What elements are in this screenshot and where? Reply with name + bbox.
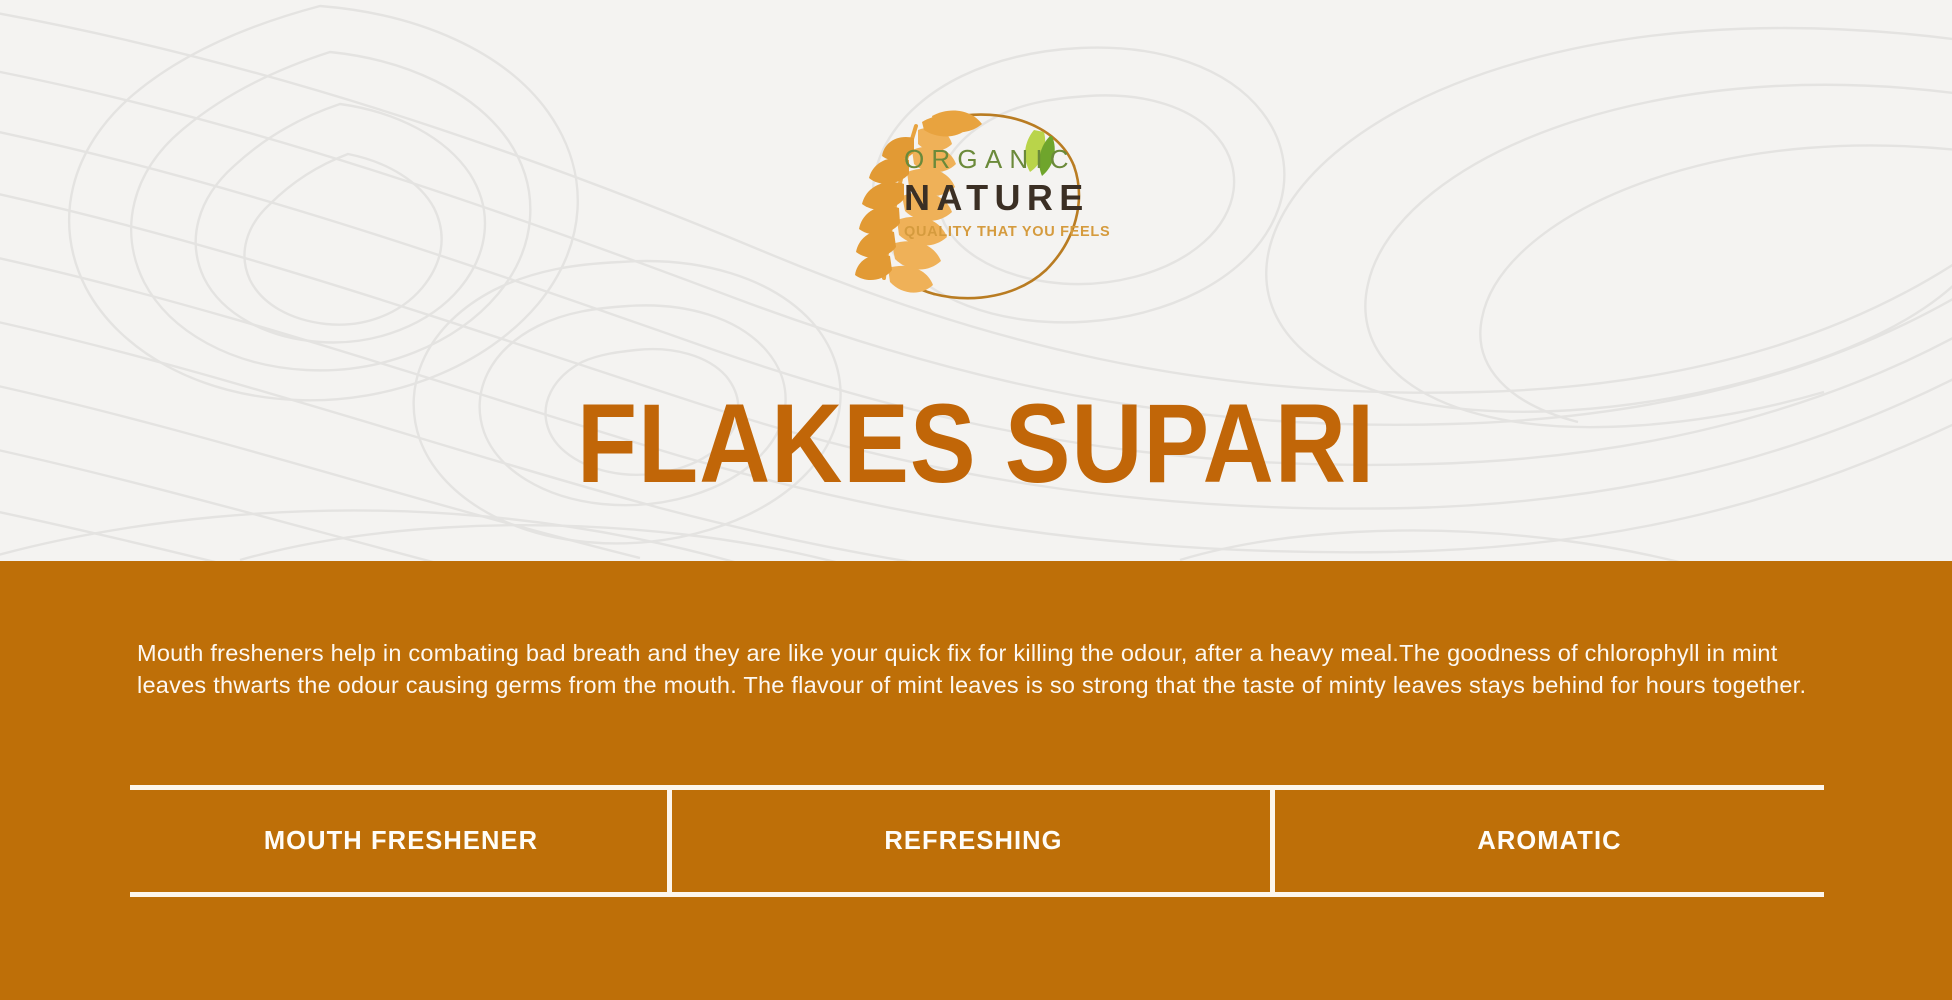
feature-label: REFRESHING [884, 827, 1062, 856]
feature-label: MOUTH FRESHENER [264, 827, 538, 856]
product-info-panel: Mouth fresheners help in combating bad b… [0, 561, 1952, 1000]
feature-item-aromatic: AROMATIC [1275, 790, 1824, 892]
feature-bar-bottom-rule [130, 892, 1824, 897]
feature-bar: MOUTH FRESHENER REFRESHING AROMATIC [130, 785, 1824, 897]
feature-item-refreshing: REFRESHING [672, 790, 1275, 892]
feature-list: MOUTH FRESHENER REFRESHING AROMATIC [130, 790, 1824, 892]
product-poster: ORGANIC NATURE QUALITY THAT YOU FEELS FL… [0, 0, 1952, 1000]
page-title: FLAKES SUPARI [117, 388, 1835, 500]
logo-text-nature: NATURE [904, 180, 1128, 216]
logo-tagline: QUALITY THAT YOU FEELS [904, 225, 1128, 240]
logo-text-organic: ORGANIC [904, 146, 1128, 172]
feature-item-mouth-freshener: MOUTH FRESHENER [130, 790, 672, 892]
brand-logo: ORGANIC NATURE QUALITY THAT YOU FEELS [838, 92, 1128, 307]
product-description: Mouth fresheners help in combating bad b… [137, 637, 1817, 701]
hero-section: ORGANIC NATURE QUALITY THAT YOU FEELS FL… [0, 0, 1952, 561]
logo-wordmark: ORGANIC NATURE QUALITY THAT YOU FEELS [904, 146, 1128, 240]
feature-label: AROMATIC [1477, 827, 1621, 856]
